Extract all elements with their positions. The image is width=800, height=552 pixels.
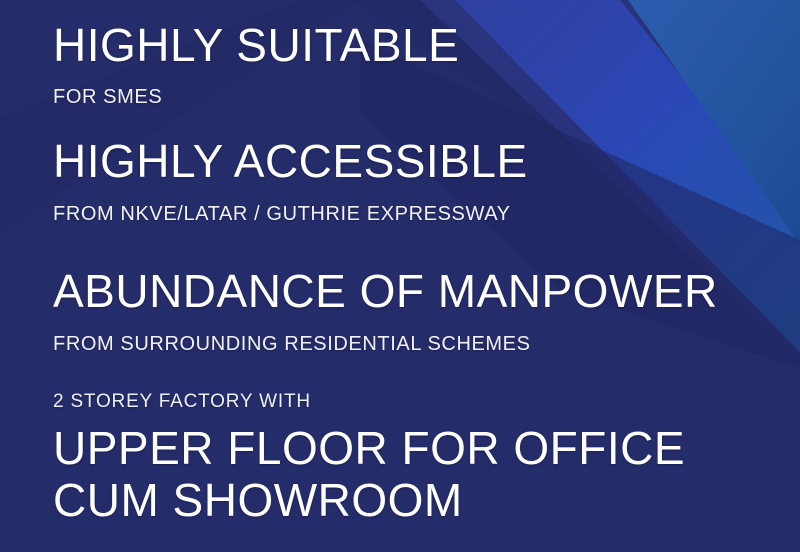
feature-poster: HIGHLY SUITABLE FOR SMES HIGHLY ACCESSIB… — [0, 0, 800, 552]
feature-headline-highly-suitable: HIGHLY SUITABLE — [53, 22, 459, 68]
feature-item-highly-suitable: HIGHLY SUITABLE FOR SMES — [53, 22, 459, 107]
feature-item-highly-accessible: HIGHLY ACCESSIBLE FROM NKVE/LATAR / GUTH… — [53, 138, 528, 224]
feature-list: HIGHLY SUITABLE FOR SMES HIGHLY ACCESSIB… — [0, 0, 800, 552]
feature-headline-two-storey-factory-line2: CUM SHOWROOM — [53, 477, 685, 523]
feature-subline-highly-accessible: FROM NKVE/LATAR / GUTHRIE EXPRESSWAY — [53, 204, 528, 224]
feature-eyebrow-two-storey-factory: 2 STOREY FACTORY WITH — [53, 392, 685, 411]
feature-headline-highly-accessible: HIGHLY ACCESSIBLE — [53, 138, 528, 184]
feature-headline-abundance-of-manpower: ABUNDANCE OF MANPOWER — [53, 268, 718, 314]
feature-item-abundance-of-manpower: ABUNDANCE OF MANPOWER FROM SURROUNDING R… — [53, 268, 718, 354]
feature-subline-abundance-of-manpower: FROM SURROUNDING RESIDENTIAL SCHEMES — [53, 334, 718, 354]
feature-subline-highly-suitable: FOR SMES — [53, 87, 459, 107]
feature-item-two-storey-factory: 2 STOREY FACTORY WITH UPPER FLOOR FOR OF… — [53, 392, 685, 523]
feature-headline-two-storey-factory-line1: UPPER FLOOR FOR OFFICE — [53, 425, 685, 471]
